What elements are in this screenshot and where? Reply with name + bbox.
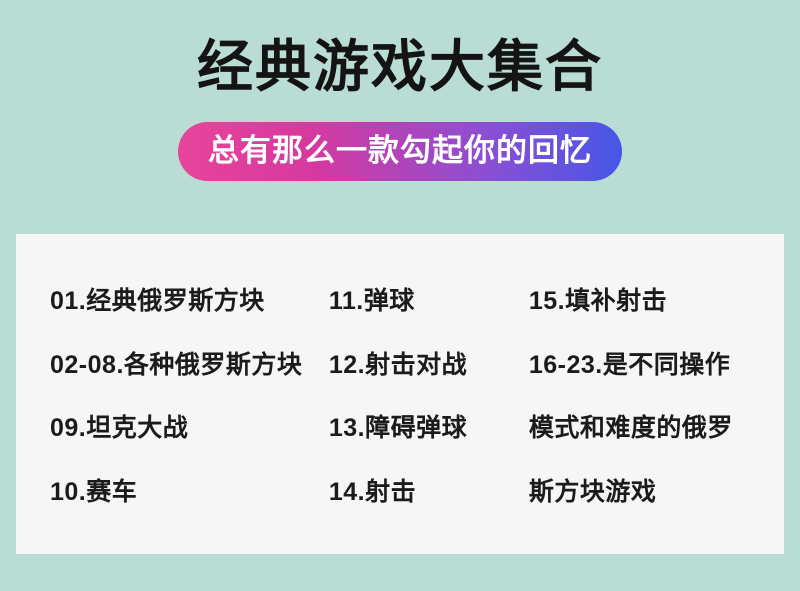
game-list-card: 01.经典俄罗斯方块 02-08.各种俄罗斯方块 09.坦克大战 10.赛车 1…	[16, 234, 784, 554]
subtitle-container: 总有那么一款勾起你的回忆	[0, 122, 800, 182]
list-item: 10.赛车	[50, 461, 329, 525]
list-item: 01.经典俄罗斯方块	[50, 270, 329, 334]
list-item: 02-08.各种俄罗斯方块	[50, 334, 329, 398]
list-item: 15.填补射击	[529, 270, 750, 334]
game-list-column-2: 11.弹球 12.射击对战 13.障碍弹球 14.射击	[329, 270, 529, 524]
list-item: 09.坦克大战	[50, 397, 329, 461]
list-item: 11.弹球	[329, 270, 529, 334]
list-item: 模式和难度的俄罗	[529, 397, 750, 461]
list-item: 斯方块游戏	[529, 461, 750, 525]
list-item: 13.障碍弹球	[329, 397, 529, 461]
subtitle-badge: 总有那么一款勾起你的回忆	[178, 122, 622, 182]
game-list-column-1: 01.经典俄罗斯方块 02-08.各种俄罗斯方块 09.坦克大战 10.赛车	[50, 270, 329, 524]
list-item: 14.射击	[329, 461, 529, 525]
list-item: 12.射击对战	[329, 334, 529, 398]
promo-poster: 经典游戏大集合 总有那么一款勾起你的回忆 01.经典俄罗斯方块 02-08.各种…	[0, 0, 800, 591]
list-item: 16-23.是不同操作	[529, 334, 750, 398]
page-title: 经典游戏大集合	[0, 0, 800, 98]
game-list-column-3: 15.填补射击 16-23.是不同操作 模式和难度的俄罗 斯方块游戏	[529, 270, 750, 524]
